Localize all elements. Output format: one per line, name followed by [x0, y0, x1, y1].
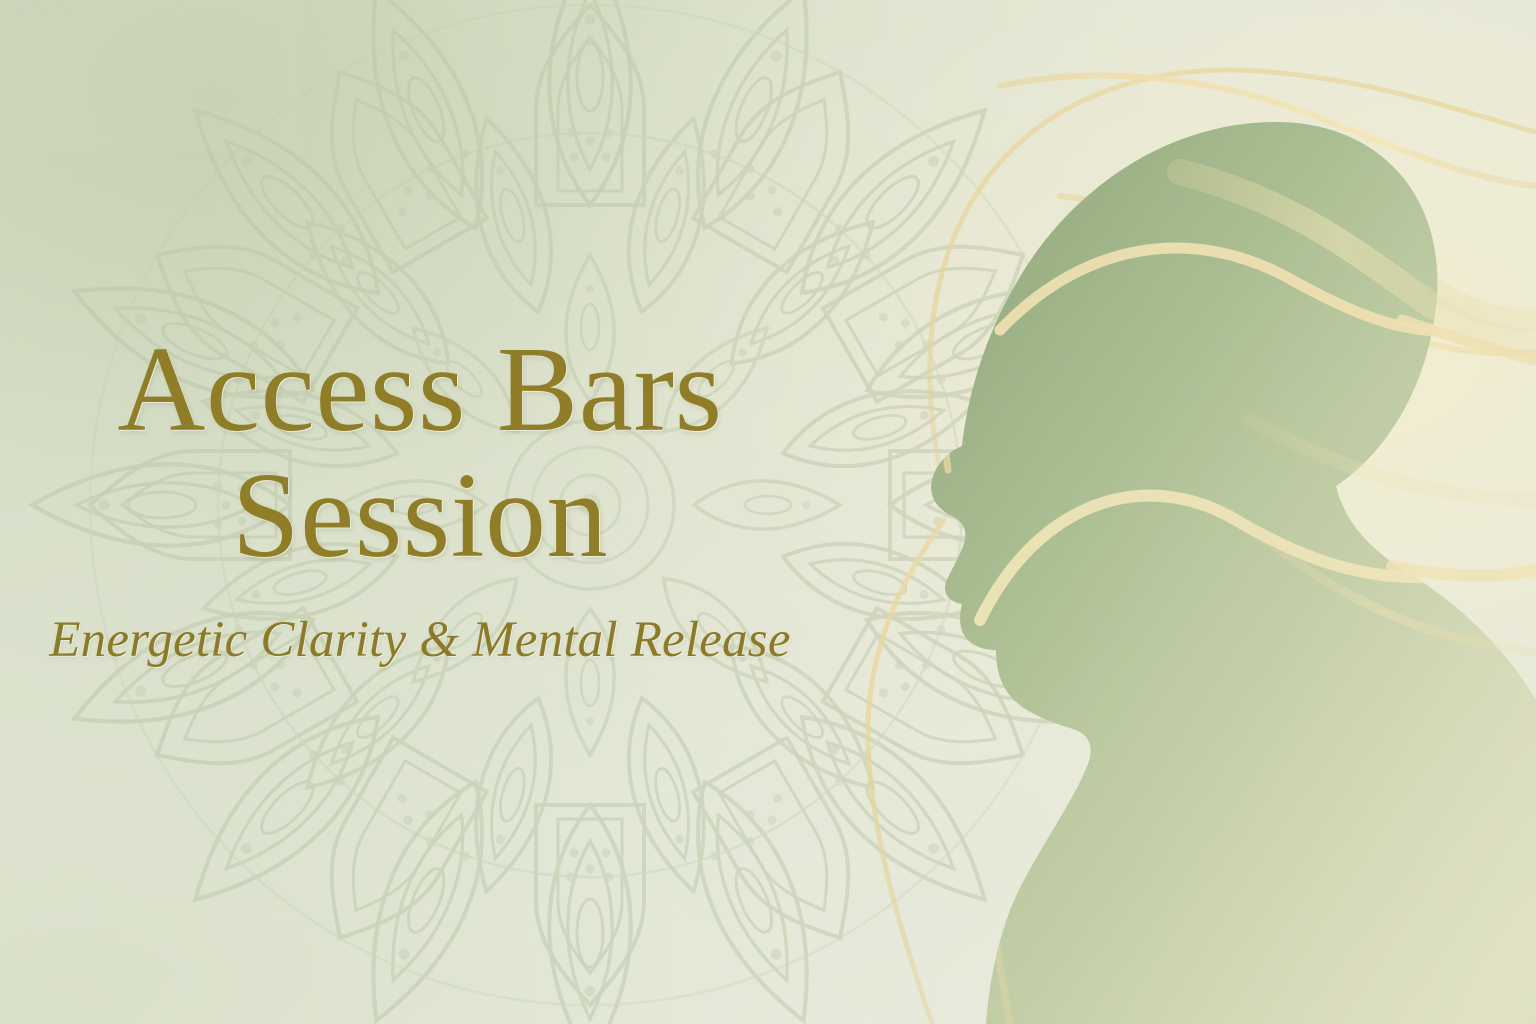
energy-wave-back [868, 70, 1536, 1024]
title-line-1: Access Bars [0, 330, 840, 450]
head-profile-silhouette [931, 122, 1536, 1024]
title-line-2: Session [0, 456, 840, 576]
energy-wave-front [1180, 172, 1536, 652]
access-bars-session-banner: Access Bars Session Energetic Clarity & … [0, 0, 1536, 1024]
grain-texture [0, 0, 300, 150]
energy-wave-through-head [943, 170, 1460, 1024]
headline-block: Access Bars Session Energetic Clarity & … [0, 330, 840, 669]
subtitle: Energetic Clarity & Mental Release [0, 611, 840, 669]
